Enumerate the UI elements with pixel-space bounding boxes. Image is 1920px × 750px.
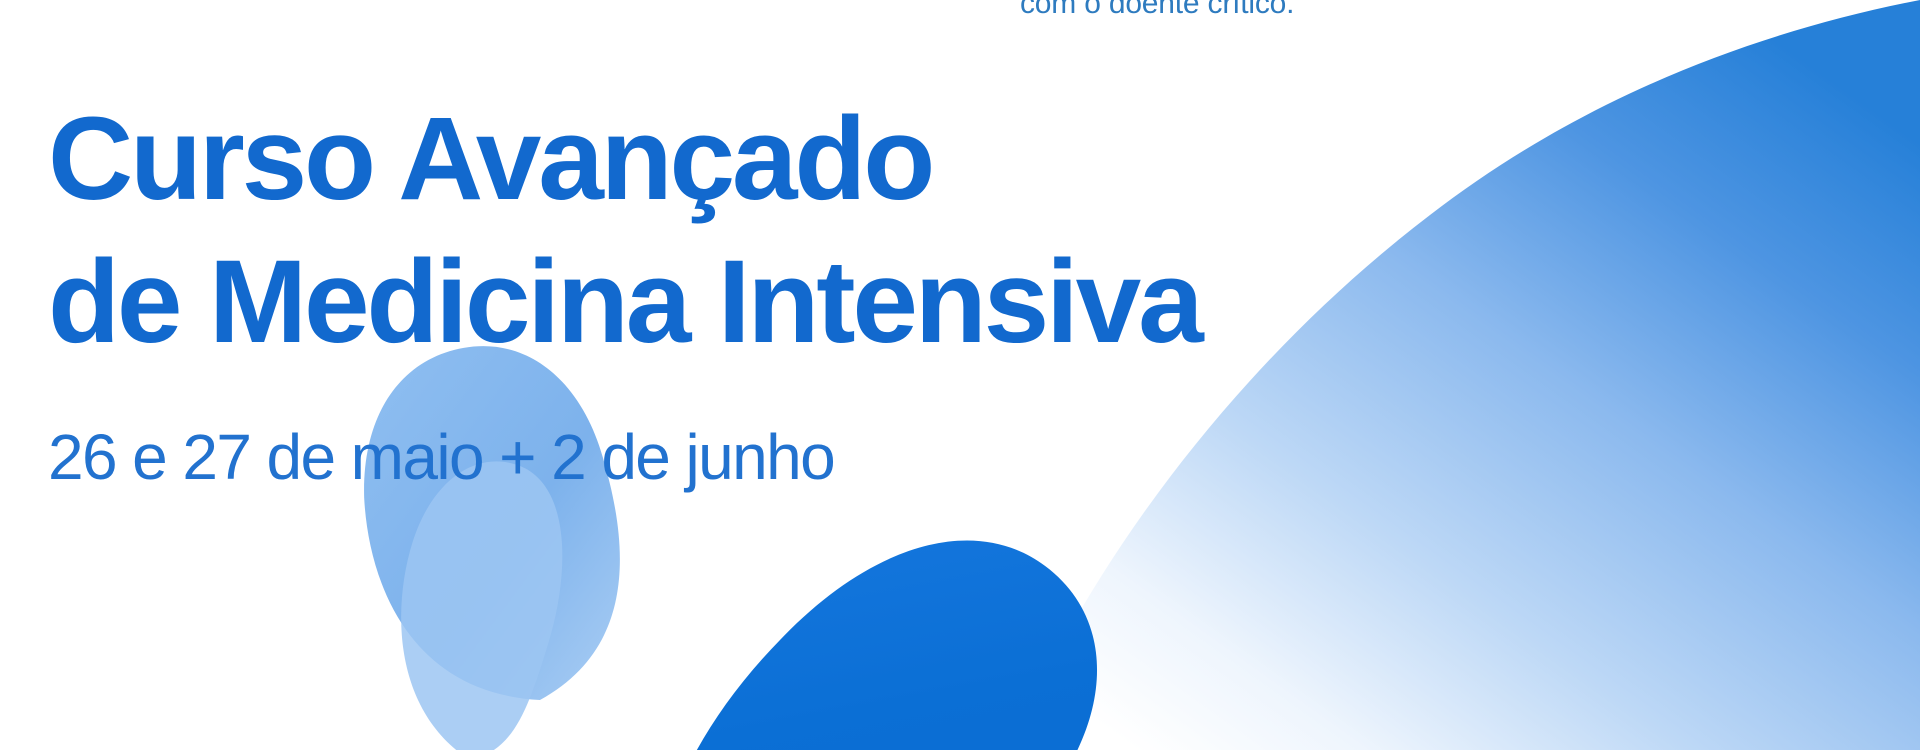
banner-content: com o doente crítico. Curso Avançado de … (0, 0, 1920, 750)
promo-banner: com o doente crítico. Curso Avançado de … (0, 0, 1920, 750)
kicker-text: com o doente crítico. (1020, 0, 1294, 22)
headline-line-1: Curso Avançado (48, 88, 1568, 231)
headline-line-2: de Medicina Intensiva (48, 231, 1568, 374)
page-title: Curso Avançado de Medicina Intensiva (48, 88, 1568, 374)
event-date-text: 26 e 27 de maio + 2 de junho (48, 419, 834, 495)
